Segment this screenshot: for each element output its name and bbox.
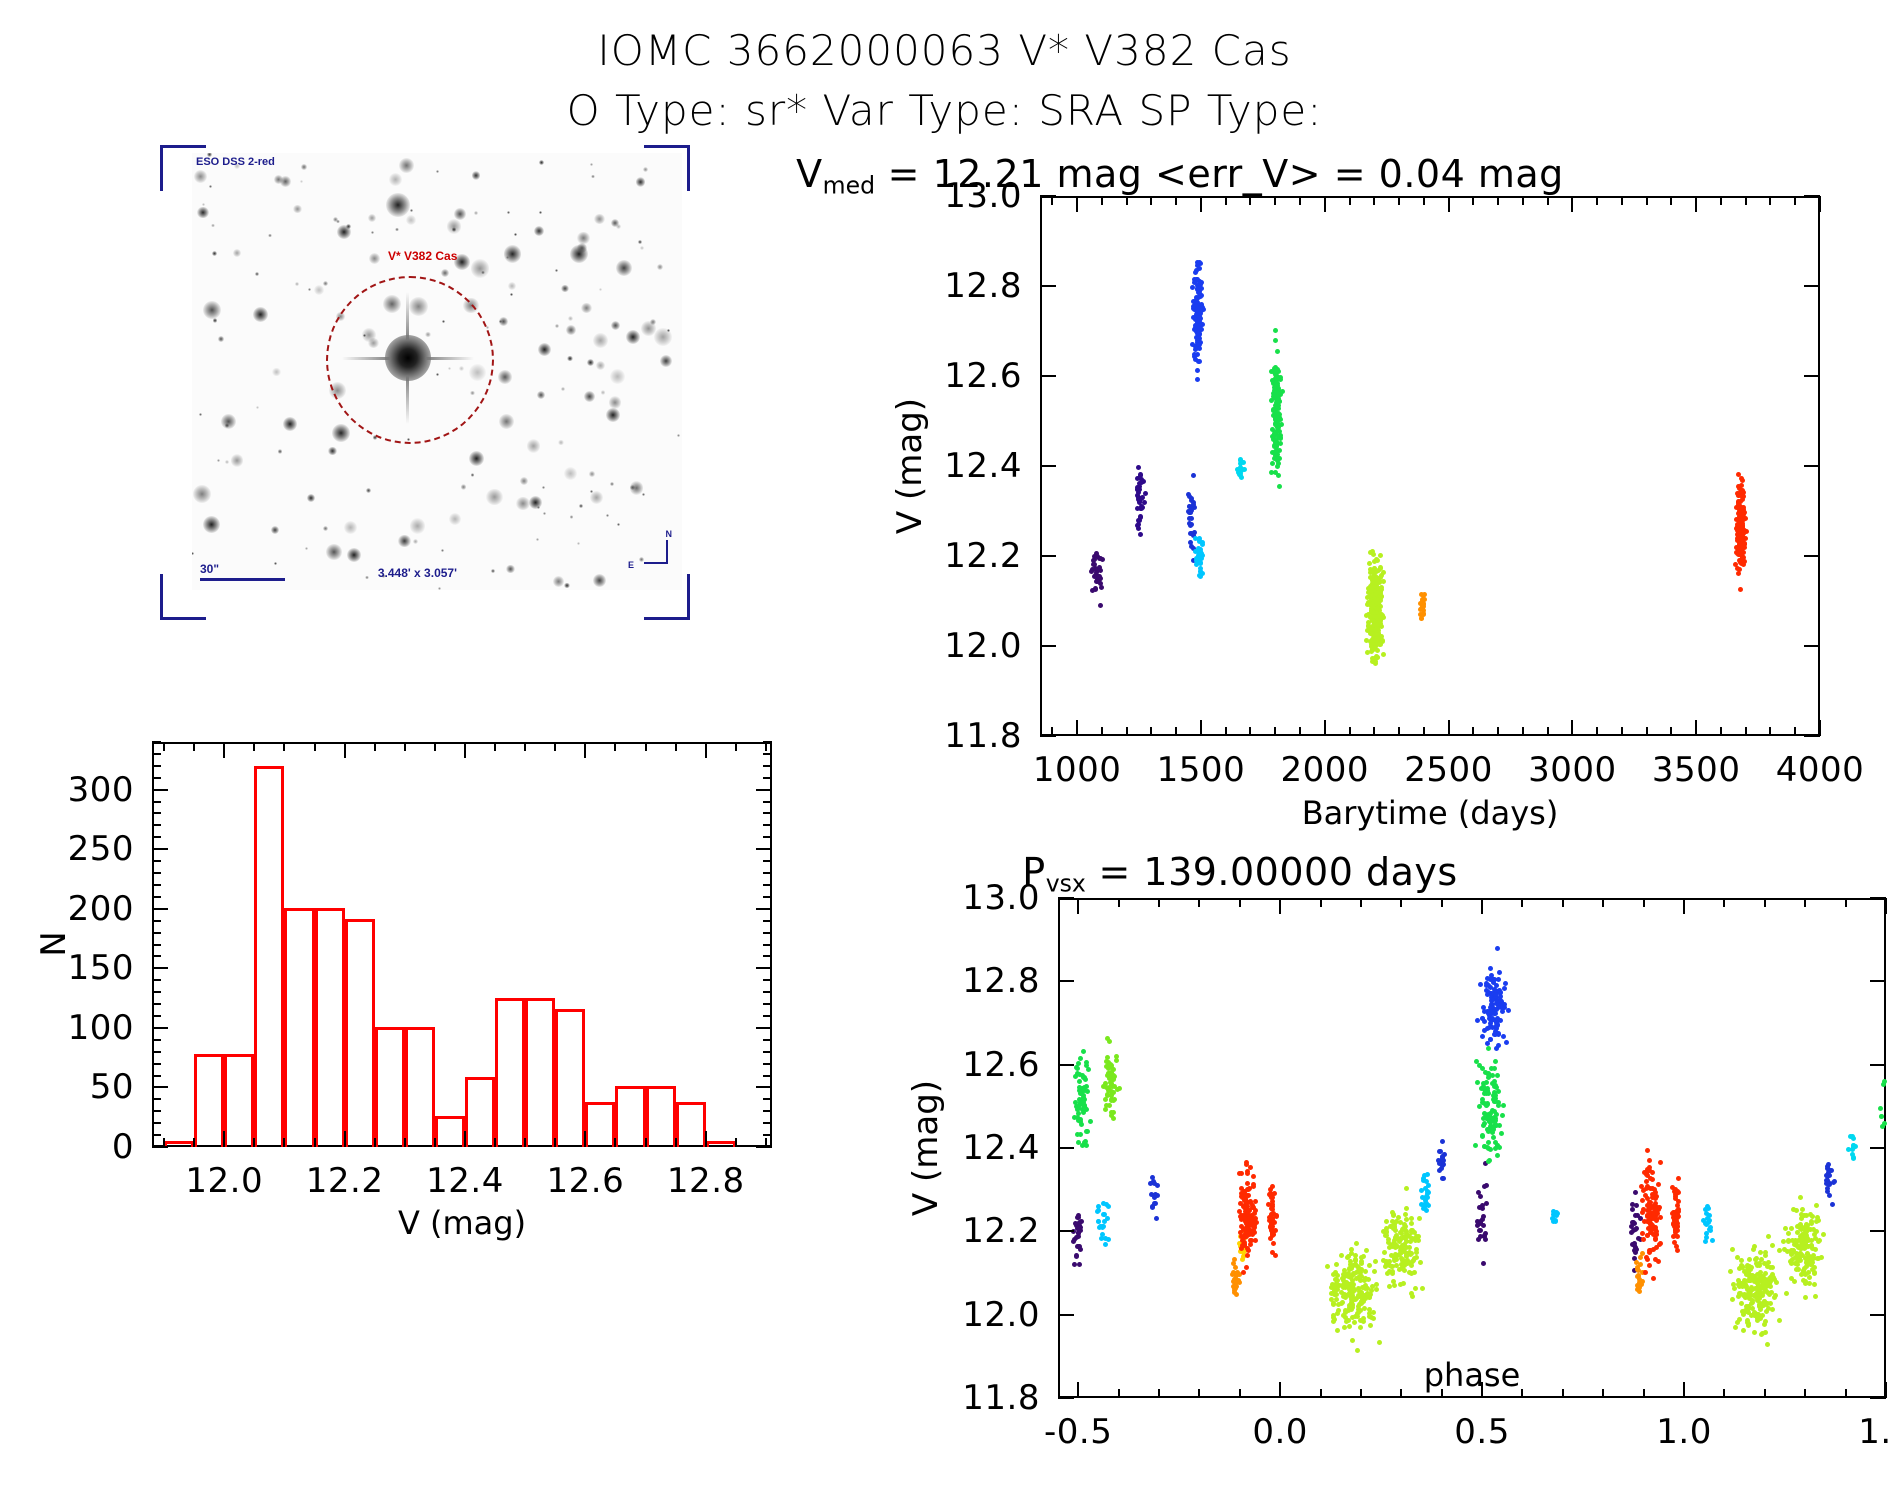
field-star xyxy=(212,251,217,256)
y-tick-minor-right xyxy=(763,812,772,814)
data-point xyxy=(1790,1250,1795,1255)
x-tick-label: 12.8 xyxy=(667,1161,745,1201)
histogram-bar xyxy=(284,908,314,1147)
x-tick-minor-top xyxy=(1279,898,1281,907)
y-tick-minor-right xyxy=(763,1122,772,1124)
data-point xyxy=(1494,1020,1499,1025)
data-point xyxy=(1502,986,1507,991)
x-tick-label: 2500 xyxy=(1404,750,1493,790)
y-tick-minor xyxy=(152,872,161,874)
data-point xyxy=(1075,1071,1080,1076)
period-subscript: vsx xyxy=(1046,870,1086,898)
x-tick-minor-top xyxy=(1522,196,1524,205)
histogram-bar xyxy=(615,1086,645,1147)
field-star xyxy=(268,234,272,238)
field-star xyxy=(567,356,572,361)
field-star xyxy=(555,324,559,328)
data-point xyxy=(1730,1247,1735,1252)
data-point xyxy=(1410,1259,1415,1264)
data-point xyxy=(1088,1119,1093,1124)
x-tick-label: 1000 xyxy=(1033,750,1122,790)
histogram-bar xyxy=(525,998,555,1147)
data-point xyxy=(1821,1232,1826,1237)
x-tick-minor-top xyxy=(1320,898,1322,907)
data-point xyxy=(1197,359,1202,364)
y-tick-minor xyxy=(152,932,161,934)
x-tick-minor-top xyxy=(1723,898,1725,907)
field-star-bright xyxy=(570,245,588,263)
data-point xyxy=(1737,558,1742,563)
y-tick-minor-right xyxy=(763,801,772,803)
data-point xyxy=(1658,1160,1663,1165)
data-point xyxy=(1374,1287,1379,1292)
y-tick-minor xyxy=(152,1075,161,1077)
data-point xyxy=(1192,280,1197,285)
errv-equals: = xyxy=(1334,152,1366,196)
data-point xyxy=(1358,1325,1363,1330)
field-star xyxy=(305,547,308,550)
y-tick-minor-right xyxy=(763,1015,772,1017)
data-point xyxy=(1392,1258,1397,1263)
y-tick-minor-right xyxy=(763,991,772,993)
field-star-bright xyxy=(606,408,620,422)
x-tick-minor xyxy=(1324,727,1326,736)
field-star xyxy=(203,301,221,319)
x-tick-minor-top xyxy=(735,742,737,751)
x-tick-minor xyxy=(404,1138,406,1147)
x-tick-minor xyxy=(1373,727,1375,736)
y-tick-major xyxy=(1058,1230,1074,1232)
histogram-bar xyxy=(224,1054,254,1147)
y-tick-major-right xyxy=(1870,1314,1886,1316)
data-point xyxy=(1486,1075,1491,1080)
data-point xyxy=(1404,1186,1409,1191)
y-tick-minor-right xyxy=(763,753,772,755)
data-point xyxy=(1074,1254,1079,1259)
y-tick-minor-right xyxy=(763,1027,772,1029)
data-point xyxy=(1367,1295,1372,1300)
data-point xyxy=(1414,1250,1419,1255)
data-point xyxy=(1364,1248,1369,1253)
data-point xyxy=(1273,438,1278,443)
field-star xyxy=(606,514,609,517)
y-tick-minor xyxy=(152,1134,161,1136)
data-point xyxy=(1375,597,1380,602)
data-point xyxy=(1107,1039,1112,1044)
data-point xyxy=(1101,1212,1106,1217)
x-tick-minor-top xyxy=(1481,898,1483,907)
data-point xyxy=(1744,1304,1749,1309)
data-point xyxy=(1496,1103,1501,1108)
field-star xyxy=(561,285,568,292)
data-point xyxy=(1554,1210,1559,1215)
data-point xyxy=(1081,1110,1086,1115)
data-point xyxy=(1366,1277,1371,1282)
data-point xyxy=(1365,595,1370,600)
field-star xyxy=(543,512,546,515)
field-star xyxy=(454,208,466,220)
data-point xyxy=(1736,500,1741,505)
field-star-bright xyxy=(347,548,361,562)
data-point xyxy=(1485,1089,1490,1094)
x-tick-minor xyxy=(675,1138,677,1147)
data-point xyxy=(1630,1207,1635,1212)
field-star xyxy=(280,176,290,186)
x-tick-minor-top xyxy=(1349,196,1351,205)
x-tick-minor-top xyxy=(1400,898,1402,907)
field-star xyxy=(617,523,620,526)
x-tick-minor-top xyxy=(1521,898,1523,907)
y-tick-minor-right xyxy=(763,1039,772,1041)
x-tick-minor xyxy=(1794,727,1796,736)
y-tick-minor xyxy=(152,908,161,910)
field-star xyxy=(369,253,380,264)
x-tick-minor-top xyxy=(1804,898,1806,907)
histogram-x-axis-label: V (mag) xyxy=(398,1204,526,1242)
y-tick-major xyxy=(1040,375,1056,377)
data-point xyxy=(1503,981,1508,986)
x-tick-minor xyxy=(1279,1389,1281,1398)
field-star xyxy=(499,414,514,429)
data-point xyxy=(1152,1201,1157,1206)
x-tick-minor-top xyxy=(1441,898,1443,907)
histogram-bar xyxy=(465,1077,495,1147)
data-point xyxy=(1765,1264,1770,1269)
y-tick-minor-right xyxy=(763,1110,772,1112)
x-tick-minor xyxy=(1274,727,1276,736)
data-point xyxy=(1250,1205,1255,1210)
y-tick-major xyxy=(1040,645,1056,647)
x-tick-minor xyxy=(374,1138,376,1147)
x-tick-minor xyxy=(554,1138,556,1147)
data-point xyxy=(1270,1199,1275,1204)
field-star xyxy=(323,281,328,286)
x-tick-minor-top xyxy=(374,742,376,751)
field-star xyxy=(654,328,672,346)
field-star xyxy=(542,486,545,489)
field-star xyxy=(581,303,591,313)
field-star xyxy=(395,228,398,231)
data-point xyxy=(1440,1157,1445,1162)
y-tick-minor xyxy=(152,1039,161,1041)
y-tick-minor-right xyxy=(763,1146,772,1148)
data-point xyxy=(1245,1253,1250,1258)
data-point xyxy=(1404,1206,1409,1211)
data-point xyxy=(1650,1186,1655,1191)
y-tick-major xyxy=(1040,735,1056,737)
data-point xyxy=(1390,1271,1395,1276)
data-point xyxy=(1248,1242,1253,1247)
x-tick-minor xyxy=(1076,727,1078,736)
field-star xyxy=(499,317,508,326)
y-tick-minor-right xyxy=(763,944,772,946)
x-tick-minor-top xyxy=(283,742,285,751)
field-star xyxy=(570,515,573,518)
field-star xyxy=(636,177,646,187)
field-star xyxy=(566,325,576,335)
x-tick-minor-top xyxy=(1571,196,1573,205)
sky-survey-image: ESO DSS 2-red V* V382 Cas 30" 3.448' x 3… xyxy=(192,153,682,590)
histogram-bar xyxy=(676,1102,706,1147)
data-point xyxy=(1644,1172,1649,1177)
x-tick-minor-top xyxy=(1360,898,1362,907)
data-point xyxy=(1495,946,1500,951)
x-tick-minor xyxy=(193,1138,195,1147)
x-tick-label: 1.0 xyxy=(1656,1412,1712,1452)
field-star xyxy=(328,447,337,456)
x-tick-minor xyxy=(1472,727,1474,736)
lightcurve-plot: 1000150020002500300035004000 11.812.012.… xyxy=(1040,196,1820,736)
field-star xyxy=(553,576,564,587)
data-point xyxy=(1196,331,1201,336)
x-tick-minor-top xyxy=(645,742,647,751)
phaseplot-x-axis-label: phase xyxy=(1424,1356,1521,1394)
data-point xyxy=(1349,1251,1354,1256)
data-point xyxy=(1878,1106,1883,1111)
field-star xyxy=(197,207,208,218)
field-star xyxy=(534,226,544,236)
compass-north-label: N xyxy=(666,529,673,539)
data-point xyxy=(1774,1280,1779,1285)
data-point xyxy=(1109,1081,1114,1086)
data-point xyxy=(1190,342,1195,347)
data-point xyxy=(1244,1265,1249,1270)
data-point xyxy=(1648,1248,1653,1253)
field-star xyxy=(461,484,466,489)
x-tick-minor-top xyxy=(584,742,586,751)
data-point xyxy=(1441,1176,1446,1181)
x-tick-minor-top xyxy=(1547,196,1549,205)
field-star xyxy=(589,471,594,476)
field-star xyxy=(441,549,444,552)
data-point xyxy=(1368,627,1373,632)
y-tick-minor xyxy=(152,884,161,886)
data-point xyxy=(1640,1198,1645,1203)
x-tick-label: 4000 xyxy=(1776,750,1865,790)
y-tick-minor-right xyxy=(763,860,772,862)
field-star xyxy=(308,288,311,291)
data-point xyxy=(1641,1237,1646,1242)
x-tick-minor-top xyxy=(464,742,466,751)
y-tick-label: 100 xyxy=(68,1008,134,1048)
x-tick-minor xyxy=(1497,727,1499,736)
data-point xyxy=(1481,1214,1486,1219)
x-tick-minor-top xyxy=(404,742,406,751)
errv-value: 0.04 xyxy=(1379,152,1466,196)
x-tick-minor xyxy=(1621,727,1623,736)
x-tick-minor xyxy=(1423,727,1425,736)
y-tick-minor xyxy=(152,1146,161,1148)
lightcurve-x-axis-label: Barytime (days) xyxy=(1302,794,1559,832)
data-point xyxy=(1676,1214,1681,1219)
data-point xyxy=(1501,1103,1506,1108)
data-point xyxy=(1803,1295,1808,1300)
histogram-bar xyxy=(646,1086,676,1147)
field-star xyxy=(371,231,374,234)
y-tick-major xyxy=(1058,1314,1074,1316)
data-point xyxy=(1150,1175,1155,1180)
data-point xyxy=(1496,1043,1501,1048)
field-star xyxy=(441,269,449,277)
y-tick-minor xyxy=(152,777,161,779)
data-point xyxy=(1273,470,1278,475)
data-point xyxy=(1800,1207,1805,1212)
data-point xyxy=(1103,1242,1108,1247)
data-point xyxy=(1494,1007,1499,1012)
histogram-bar xyxy=(315,908,345,1147)
data-point xyxy=(1488,1037,1493,1042)
field-star xyxy=(539,211,542,214)
x-tick-minor-top xyxy=(554,742,556,751)
field-star xyxy=(642,493,645,496)
field-star xyxy=(211,224,214,227)
x-tick-minor-top xyxy=(1118,898,1120,907)
data-point xyxy=(1250,1223,1255,1228)
field-star xyxy=(506,565,514,573)
y-tick-minor-right xyxy=(763,741,772,743)
data-point xyxy=(1136,490,1141,495)
x-tick-minor-top xyxy=(1596,196,1598,205)
field-star xyxy=(389,173,402,186)
field-star xyxy=(640,246,644,250)
data-point xyxy=(1801,1245,1806,1250)
data-point xyxy=(1382,1250,1387,1255)
x-tick-label: 1500 xyxy=(1157,750,1246,790)
data-point xyxy=(1498,998,1503,1003)
data-point xyxy=(1398,1248,1403,1253)
data-point xyxy=(1829,1168,1834,1173)
x-tick-minor xyxy=(1695,727,1697,736)
x-tick-minor-top xyxy=(524,742,526,751)
y-tick-major xyxy=(1058,980,1074,982)
x-tick-minor-top xyxy=(223,742,225,751)
data-point xyxy=(1654,1245,1659,1250)
x-tick-minor xyxy=(1562,1389,1564,1398)
y-tick-label: 300 xyxy=(68,770,134,810)
data-point xyxy=(1752,1244,1757,1249)
x-tick-minor-top xyxy=(1423,196,1425,205)
data-point xyxy=(1402,1242,1407,1247)
x-tick-minor xyxy=(223,1138,225,1147)
field-star xyxy=(516,497,529,510)
data-point xyxy=(1105,1092,1110,1097)
y-tick-minor-right xyxy=(763,1134,772,1136)
field-star xyxy=(271,526,280,535)
object-type-line: O Type: sr* Var Type: SRA SP Type: xyxy=(0,86,1889,135)
y-tick-label: 12.4 xyxy=(944,446,1022,486)
field-star xyxy=(561,387,565,391)
data-point xyxy=(1077,1262,1082,1267)
data-point xyxy=(1240,1257,1245,1262)
data-point xyxy=(1241,1270,1246,1275)
x-tick-minor-top xyxy=(1051,196,1053,205)
field-star xyxy=(630,481,644,495)
field-star xyxy=(272,368,281,377)
field-star xyxy=(368,214,376,222)
data-point xyxy=(1675,1248,1680,1253)
data-point xyxy=(1331,1315,1336,1320)
field-star xyxy=(611,321,620,330)
data-point xyxy=(1139,496,1144,501)
data-point xyxy=(1387,1284,1392,1289)
data-point xyxy=(1478,1194,1483,1199)
x-tick-minor xyxy=(1845,1389,1847,1398)
data-point xyxy=(1737,1291,1742,1296)
field-star xyxy=(657,264,663,270)
data-point xyxy=(1114,1054,1119,1059)
data-point xyxy=(1755,1298,1760,1303)
x-tick-minor-top xyxy=(1819,196,1821,205)
data-point xyxy=(1650,1170,1655,1175)
phaseplot-y-axis-label: V (mag) xyxy=(906,1080,946,1216)
y-tick-label: 250 xyxy=(68,829,134,869)
x-tick-minor xyxy=(1720,727,1722,736)
data-point xyxy=(1111,1090,1116,1095)
field-star xyxy=(591,175,594,178)
x-tick-label: -0.5 xyxy=(1044,1412,1112,1452)
data-point xyxy=(1730,1297,1735,1302)
data-point xyxy=(1745,1287,1750,1292)
data-point xyxy=(1813,1236,1818,1241)
errv-label: <err_V> xyxy=(1155,152,1321,196)
x-tick-minor-top xyxy=(1299,196,1301,205)
data-point xyxy=(1488,1021,1493,1026)
y-tick-minor-right xyxy=(763,824,772,826)
field-star xyxy=(293,205,302,214)
x-tick-minor-top xyxy=(1602,898,1604,907)
y-tick-minor xyxy=(152,955,161,957)
data-point xyxy=(1354,1241,1359,1246)
data-point xyxy=(1643,1193,1648,1198)
data-point xyxy=(1081,1100,1086,1105)
data-point xyxy=(1736,522,1741,527)
data-point xyxy=(1676,1199,1681,1204)
data-point xyxy=(1813,1294,1818,1299)
field-star xyxy=(643,167,648,172)
field-star-bright xyxy=(337,225,351,239)
field-star xyxy=(202,203,205,206)
y-tick-minor-right xyxy=(763,932,772,934)
y-tick-minor-right xyxy=(763,1086,772,1088)
field-star xyxy=(486,489,502,505)
y-tick-major xyxy=(1040,285,1056,287)
data-point xyxy=(1353,1314,1358,1319)
y-tick-minor xyxy=(152,789,161,791)
y-tick-label: 13.0 xyxy=(962,878,1040,918)
data-point xyxy=(1437,1168,1442,1173)
data-point xyxy=(1826,1162,1831,1167)
data-point xyxy=(1409,1251,1414,1256)
data-point xyxy=(1251,1174,1256,1179)
histogram-bar xyxy=(345,919,375,1147)
histogram-bar xyxy=(194,1054,224,1147)
object-name-annotation: V* V382 Cas xyxy=(388,249,457,263)
x-tick-minor xyxy=(1360,1389,1362,1398)
x-tick-minor xyxy=(705,1138,707,1147)
field-star xyxy=(677,434,680,437)
x-tick-minor-top xyxy=(614,742,616,751)
data-point xyxy=(1331,1302,1336,1307)
data-point xyxy=(1367,1263,1372,1268)
y-tick-minor-right xyxy=(763,1098,772,1100)
field-star xyxy=(471,259,490,278)
data-point xyxy=(1372,645,1377,650)
y-tick-minor-right xyxy=(763,908,772,910)
field-star xyxy=(344,521,357,534)
data-point xyxy=(1701,1218,1706,1223)
data-point xyxy=(1634,1247,1639,1252)
x-tick-minor-top xyxy=(1646,196,1648,205)
